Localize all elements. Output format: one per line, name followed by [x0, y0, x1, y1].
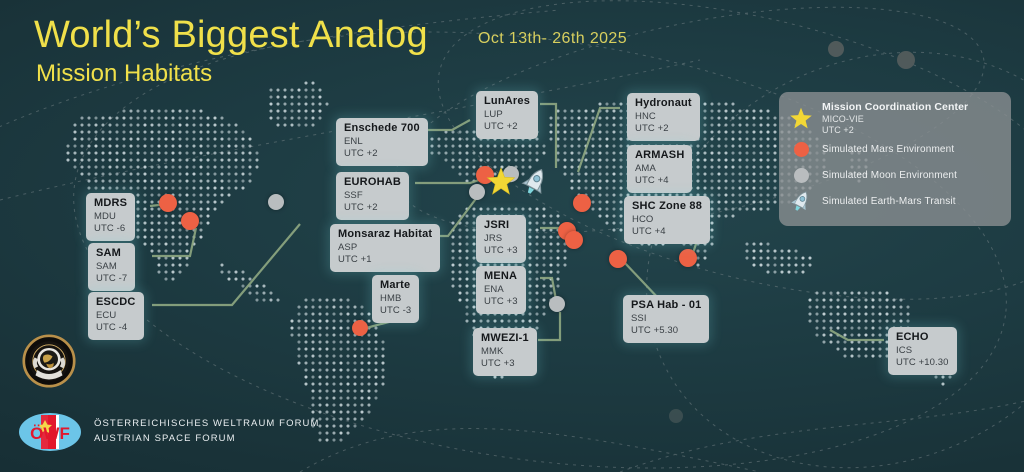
- habitat-utc-offset: UTC +3: [484, 296, 518, 309]
- legend-panel: Mission Coordination CenterMICO-VIEUTC +…: [779, 92, 1011, 226]
- habitat-code: SSF: [344, 190, 401, 203]
- owf-line-german: ÖSTERREICHISCHES WELTRAUM FORUM: [94, 417, 320, 432]
- habitat-utc-offset: UTC +2: [344, 148, 420, 161]
- habitat-label-card[interactable]: ECHOICSUTC +10.30: [888, 327, 957, 375]
- habitat-utc-offset: UTC +2: [344, 202, 401, 215]
- page-title: World’s Biggest Analog Mission Habitats: [34, 16, 428, 88]
- habitat-label-card[interactable]: ARMASHAMAUTC +4: [627, 145, 692, 193]
- owf-wordmark: ÖSTERREICHISCHES WELTRAUM FORUM AUSTRIAN…: [94, 417, 320, 446]
- legend-row: Simulated Earth-Mars Transit: [789, 190, 1001, 214]
- owf-line-english: AUSTRIAN SPACE FORUM: [94, 432, 320, 447]
- legend-row: Simulated Moon Environment: [789, 164, 1001, 188]
- habitat-name: PSA Hab - 01: [631, 299, 701, 313]
- habitat-label-card[interactable]: SAMSAMUTC -7: [88, 243, 135, 291]
- habitat-name: SAM: [96, 247, 127, 261]
- habitat-name: Enschede 700: [344, 122, 420, 136]
- legend-text: Simulated Earth-Mars Transit: [822, 196, 956, 208]
- habitat-name: Monsaraz Habitat: [338, 228, 432, 242]
- habitat-label-card[interactable]: JSRIJRSUTC +3: [476, 215, 526, 263]
- habitat-utc-offset: UTC -7: [96, 273, 127, 286]
- earth-mars-transit-rocket-icon: [521, 166, 549, 198]
- legend-utc-offset: UTC +2: [822, 125, 968, 136]
- habitat-code: SSI: [631, 313, 701, 326]
- habitat-label-card[interactable]: HydronautHNCUTC +2: [627, 93, 700, 141]
- mission-coordination-center-star-icon: [486, 167, 516, 196]
- legend-text: Mission Coordination CenterMICO-VIEUTC +…: [822, 101, 968, 136]
- habitat-code: HMB: [380, 293, 411, 306]
- mars-environment-marker[interactable]: [609, 250, 627, 268]
- habitat-code: HNC: [635, 111, 692, 124]
- habitat-utc-offset: UTC +2: [635, 123, 692, 136]
- legend-row: Mission Coordination CenterMICO-VIEUTC +…: [789, 101, 1001, 136]
- legend-text: Simulated Moon Environment: [822, 170, 957, 182]
- gray-dot-icon: [789, 164, 813, 188]
- habitat-utc-offset: UTC -3: [380, 305, 411, 318]
- austrian-space-forum-logo: ÖWF ÖSTERREICHISCHES WELTRAUM FORUM AUST…: [18, 412, 320, 452]
- habitat-label-card[interactable]: Enschede 700ENLUTC +2: [336, 118, 428, 166]
- legend-text: Simulated Mars Environment: [822, 144, 954, 156]
- habitat-name: SHC Zone 88: [632, 200, 702, 214]
- mars-environment-marker[interactable]: [352, 320, 368, 336]
- mars-environment-marker[interactable]: [159, 194, 177, 212]
- habitat-code: ECU: [96, 310, 136, 323]
- habitat-name: MWEZI-1: [481, 332, 529, 346]
- legend-code: MICO-VIE: [822, 114, 968, 125]
- habitat-label-card[interactable]: EUROHABSSFUTC +2: [336, 172, 409, 220]
- star-icon: [789, 106, 813, 130]
- habitat-name: LunAres: [484, 95, 530, 109]
- legend-label: Simulated Moon Environment: [822, 170, 957, 182]
- habitat-code: ASP: [338, 242, 432, 255]
- habitat-utc-offset: UTC -4: [96, 322, 136, 335]
- habitat-utc-offset: UTC -6: [94, 223, 127, 236]
- habitat-label-card[interactable]: MarteHMBUTC -3: [372, 275, 419, 323]
- habitat-code: JRS: [484, 233, 518, 246]
- mars-environment-marker[interactable]: [181, 212, 199, 230]
- legend-row: Simulated Mars Environment: [789, 138, 1001, 162]
- habitat-utc-offset: UTC +2: [484, 121, 530, 134]
- habitat-code: ICS: [896, 345, 949, 358]
- habitat-name: ECHO: [896, 331, 949, 345]
- moon-environment-marker[interactable]: [469, 184, 485, 200]
- moon-environment-marker[interactable]: [549, 296, 565, 312]
- habitat-label-card[interactable]: MDRSMDUUTC -6: [86, 193, 135, 241]
- moon-environment-marker[interactable]: [268, 194, 284, 210]
- owf-monogram: ÖWF: [30, 424, 70, 443]
- habitat-name: Marte: [380, 279, 411, 293]
- habitat-label-card[interactable]: MWEZI-1MMKUTC +3: [473, 328, 537, 376]
- title-main: World’s Biggest Analog: [34, 16, 428, 56]
- habitat-name: Hydronaut: [635, 97, 692, 111]
- habitat-utc-offset: UTC +3: [484, 245, 518, 258]
- habitat-name: EUROHAB: [344, 176, 401, 190]
- legend-label: Simulated Earth-Mars Transit: [822, 196, 956, 208]
- habitat-utc-offset: UTC +1: [338, 254, 432, 267]
- legend-label: Simulated Mars Environment: [822, 144, 954, 156]
- habitat-label-card[interactable]: SHC Zone 88HCOUTC +4: [624, 196, 710, 244]
- orange-dot-icon: [789, 138, 813, 162]
- habitat-code: MMK: [481, 346, 529, 359]
- habitat-utc-offset: UTC +4: [632, 226, 702, 239]
- mars-environment-marker[interactable]: [565, 231, 583, 249]
- title-subtitle: Mission Habitats: [36, 60, 428, 88]
- habitat-label-card[interactable]: ESCDCECUUTC -4: [88, 292, 144, 340]
- habitat-name: MDRS: [94, 197, 127, 211]
- mission-patch-logo: [22, 334, 76, 388]
- habitat-name: JSRI: [484, 219, 518, 233]
- habitat-label-card[interactable]: MENAENAUTC +3: [476, 266, 526, 314]
- habitat-utc-offset: UTC +5.30: [631, 325, 701, 338]
- mars-environment-marker[interactable]: [679, 249, 697, 267]
- owf-logo-icon: ÖWF: [18, 412, 82, 452]
- habitat-code: HCO: [632, 214, 702, 227]
- habitat-code: MDU: [94, 211, 127, 224]
- habitat-name: MENA: [484, 270, 518, 284]
- habitat-code: LUP: [484, 109, 530, 122]
- habitat-label-card[interactable]: LunAresLUPUTC +2: [476, 91, 538, 139]
- infographic-poster: World’s Biggest Analog Mission Habitats …: [0, 0, 1024, 472]
- habitat-label-card[interactable]: PSA Hab - 01SSIUTC +5.30: [623, 295, 709, 343]
- habitat-code: SAM: [96, 261, 127, 274]
- habitat-code: AMA: [635, 163, 684, 176]
- habitat-utc-offset: UTC +4: [635, 175, 684, 188]
- mars-environment-marker[interactable]: [573, 194, 591, 212]
- habitat-name: ARMASH: [635, 149, 684, 163]
- legend-title: Mission Coordination Center: [822, 101, 968, 114]
- habitat-code: ENA: [484, 284, 518, 297]
- habitat-code: ENL: [344, 136, 420, 149]
- habitat-utc-offset: UTC +3: [481, 358, 529, 371]
- habitat-utc-offset: UTC +10.30: [896, 357, 949, 370]
- date-range: Oct 13th- 26th 2025: [478, 30, 627, 48]
- habitat-label-card[interactable]: Monsaraz HabitatASPUTC +1: [330, 224, 440, 272]
- habitat-name: ESCDC: [96, 296, 136, 310]
- rocket-icon: [789, 190, 813, 214]
